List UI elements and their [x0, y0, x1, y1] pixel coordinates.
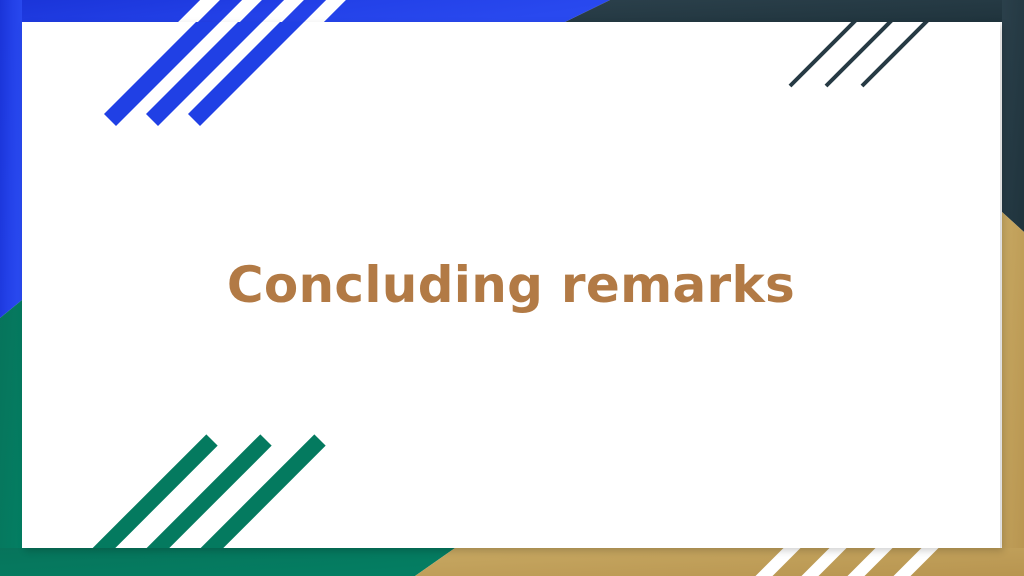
bottom-right-gold-band	[415, 548, 1024, 576]
top-left-blue-band	[0, 0, 610, 22]
page-title: Concluding remarks	[187, 258, 835, 313]
left-blue-band	[0, 0, 22, 318]
bottom-left-teal-band	[0, 548, 455, 576]
right-gold-band	[1002, 212, 1024, 576]
top-right-navy-band	[565, 0, 1024, 22]
left-teal-band	[0, 300, 22, 576]
right-navy-band	[1002, 0, 1024, 232]
slide-canvas: Concluding remarks	[0, 0, 1024, 576]
title-container: Concluding remarks	[22, 22, 1000, 548]
